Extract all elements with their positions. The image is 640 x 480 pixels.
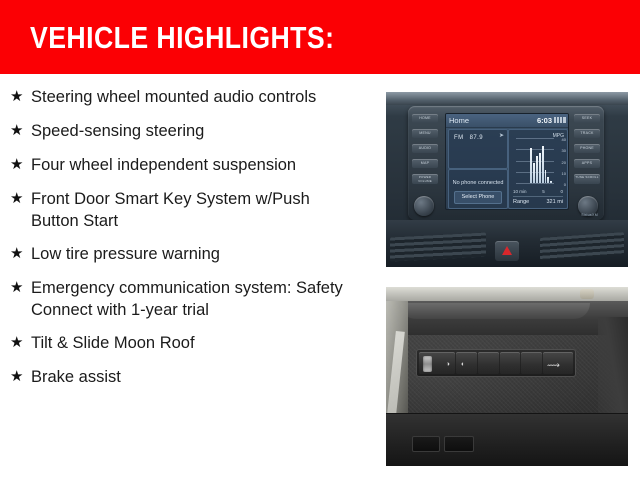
radio-band: FM [454,135,463,141]
page-title: VEHICLE HIGHLIGHTS: [30,22,334,54]
switch-panel-scene: ◑ ◐ ⟿ [386,287,628,466]
photo-dash-switch-panel: ◑ ◐ ⟿ [386,287,628,466]
vent-grille-left [390,232,486,261]
y-tick: 20 [562,161,566,165]
signal-bars-icon [554,117,566,123]
y-tick: 0 [564,183,566,187]
star-bullet-icon: ★ [10,154,31,176]
radio-frequency: 87.9 [470,135,483,141]
feature-label: Steering wheel mounted audio controls [31,86,351,108]
blank-switch-3[interactable] [521,352,542,374]
list-item: ★ Speed-sensing steering [0,120,380,142]
x-tick: 10 min [513,189,527,194]
mpg-chart-tile[interactable]: MPG 40 30 20 10 0 10 min 5 0 [508,129,568,209]
menu-button[interactable]: MENU [412,129,438,138]
blank-switch-1[interactable] [478,352,499,374]
switch-bank: ◑ ◐ ⟿ [416,349,576,377]
y-tick: 30 [562,149,566,153]
star-bullet-icon: ★ [10,277,31,299]
head-unit-scene: HOME MENU AUDIO MAP POWER VOLUME Home 6:… [386,92,628,267]
list-item: ★ Four wheel independent suspension [0,154,380,176]
headlight-leveling-switch[interactable]: ◑ [419,352,455,374]
star-bullet-icon: ★ [10,366,31,388]
headlight-washer-switch[interactable]: ◐ [456,352,477,374]
list-item: ★ Steering wheel mounted audio controls [0,86,380,108]
mpg-bar [545,170,547,184]
tune-scroll-label: TUNE SCROLL [574,174,600,184]
hazard-light-button[interactable] [495,241,519,261]
feature-label: Front Door Smart Key System w/Push Butto… [31,188,351,232]
radio-arrow-icon: ➤ [499,132,504,139]
power-liftgate-switch[interactable]: ⟿ [543,352,573,374]
star-bullet-icon: ★ [10,120,31,142]
dash-top-edge [386,92,628,105]
y-tick: 10 [562,172,566,176]
radio-tile[interactable]: FM 87.9 ➤ [448,129,508,169]
star-bullet-icon: ★ [10,86,31,108]
x-tick: 5 [542,189,545,194]
range-label: Range [513,199,529,205]
feature-label: Low tire pressure warning [31,243,351,265]
mpg-bar [533,163,535,183]
upper-dash-trim [386,301,628,336]
power-volume-knob[interactable] [414,196,434,216]
y-tick: 40 [562,138,566,142]
list-item: ★ Tilt & Slide Moon Roof [0,332,380,354]
mpg-bar [550,181,552,183]
feature-label: Four wheel independent suspension [31,154,351,176]
seek-button[interactable]: SEEK [574,114,600,123]
photo-infotainment-head-unit: HOME MENU AUDIO MAP POWER VOLUME Home 6:… [386,92,628,267]
mpg-bar [547,177,549,183]
headlamp-icon: ◑ [446,361,450,368]
clock-display: 6:03 [537,115,552,126]
fuse-access-slot-right [444,436,474,452]
list-item: ★ Low tire pressure warning [0,243,380,265]
apps-button[interactable]: APPS [574,159,600,168]
photo-column: HOME MENU AUDIO MAP POWER VOLUME Home 6:… [386,74,630,480]
infotainment-screen[interactable]: Home 6:03 FM 87.9 ➤ [445,113,569,210]
blank-switch-2[interactable] [500,352,521,374]
phone-button[interactable]: PHONE [574,144,600,153]
list-item: ★ Front Door Smart Key System w/Push But… [0,188,380,232]
mpg-bar [539,153,541,183]
phone-tile[interactable]: No phone connected Select Phone [448,169,508,209]
mpg-bar [542,146,544,183]
siriusxm-brandmark: SiriusXM [581,213,598,217]
fuse-access-slot-left [412,436,440,452]
mpg-bar-chart: 40 30 20 10 0 [516,138,554,183]
vehicle-features-list: ★ Steering wheel mounted audio controls … [0,74,380,480]
list-item: ★ Emergency communication system: Safety… [0,277,380,321]
leveling-dial-icon [423,356,432,372]
feature-label: Brake assist [31,366,351,388]
star-bullet-icon: ★ [10,243,31,265]
star-bullet-icon: ★ [10,332,31,354]
power-volume-label: POWER VOLUME [412,174,438,184]
liftgate-icon: ⟿ [547,361,560,370]
header-banner: VEHICLE HIGHLIGHTS: [0,0,640,74]
list-item: ★ Brake assist [0,366,380,388]
mpg-bar [530,148,532,183]
mpg-bar [536,156,538,183]
head-unit-left-button-column: HOME MENU AUDIO MAP POWER VOLUME [412,114,438,184]
track-button[interactable]: TRACK [574,129,600,138]
phone-status-text: No phone connected [449,180,507,186]
home-button[interactable]: HOME [412,114,438,123]
range-readout: Range 321 mi [513,196,563,205]
vent-grille-right [540,232,624,260]
mpg-bars [522,138,552,183]
head-unit-right-button-column: SEEK TRACK PHONE APPS TUNE SCROLL [574,114,600,184]
mpg-x-axis: 10 min 5 0 [513,189,563,194]
trim-hook [580,289,594,299]
radio-band-frequency: FM 87.9 [454,134,483,142]
feature-label: Emergency communication system: Safety C… [31,277,351,321]
screen-status-bar: Home 6:03 [446,114,568,128]
select-phone-button[interactable]: Select Phone [454,191,502,204]
center-stack-vents [386,220,628,267]
head-unit-bezel: HOME MENU AUDIO MAP POWER VOLUME Home 6:… [408,106,604,220]
audio-button[interactable]: AUDIO [412,144,438,153]
headlight-washer-icon: ◐ [461,361,465,368]
map-button[interactable]: MAP [412,159,438,168]
star-bullet-icon: ★ [10,188,31,210]
screen-title: Home [449,115,469,126]
lower-trim-panel [386,413,628,466]
feature-label: Speed-sensing steering [31,120,351,142]
range-value: 321 mi [546,199,563,205]
x-tick: 0 [560,189,563,194]
feature-label: Tilt & Slide Moon Roof [31,332,351,354]
